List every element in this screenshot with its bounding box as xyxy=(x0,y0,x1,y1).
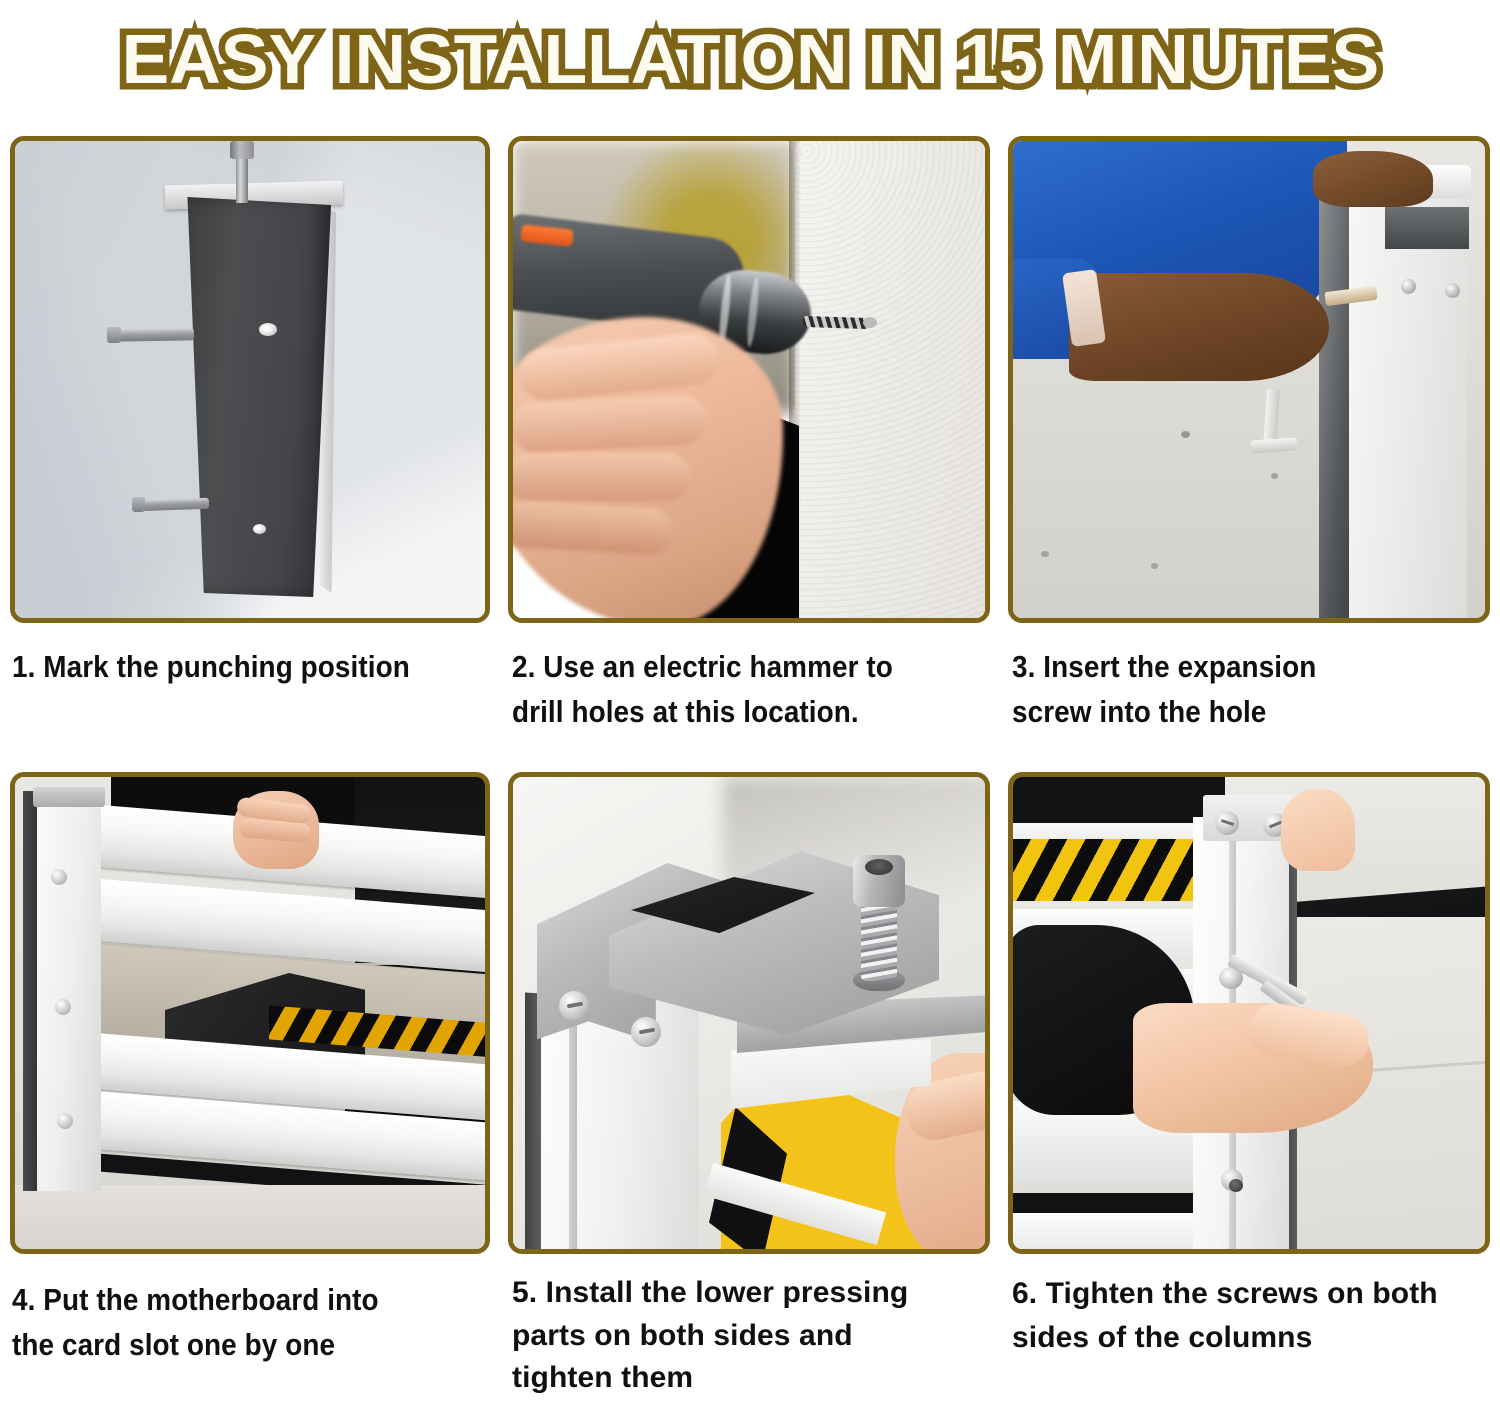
step-6-caption-line-1: 6. Tighten the screws on both xyxy=(1012,1272,1500,1316)
step-3-photo xyxy=(1013,141,1485,618)
infographic-page: EASY INSTALLATION IN 15 MINUTES 1. Mark … xyxy=(0,0,1500,1403)
finger-4 xyxy=(513,501,674,556)
column xyxy=(37,791,101,1191)
white-wall xyxy=(795,141,985,618)
floor-mark-3 xyxy=(1041,551,1049,557)
forearm xyxy=(1069,273,1329,381)
step-5-caption-line-2: parts on both sides and xyxy=(512,1315,982,1358)
column-screw-1 xyxy=(51,869,67,885)
floor xyxy=(15,1185,485,1249)
step-3-caption: 3. Insert the expansion screw into the h… xyxy=(1012,645,1444,735)
step-6-caption-line-2: sides of the columns xyxy=(1012,1316,1500,1360)
step-4-caption-line-1: 4. Put the motherboard into xyxy=(12,1278,480,1323)
post-hole-lower xyxy=(253,524,266,534)
step-4-photo-frame xyxy=(10,772,490,1254)
step-6-photo-frame xyxy=(1008,772,1490,1254)
step-4-caption-line-2: the card slot one by one xyxy=(12,1323,480,1368)
step-2-caption: 2. Use an electric hammer to drill holes… xyxy=(512,645,980,735)
step-2-photo xyxy=(513,141,985,618)
floor-mark-4 xyxy=(1151,563,1158,569)
step-1-caption: 1. Mark the punching position xyxy=(12,645,462,690)
step-2-photo-frame xyxy=(508,136,990,623)
column-screw-b xyxy=(1445,283,1460,298)
column-top-cap xyxy=(33,787,105,807)
step-5-photo xyxy=(513,777,985,1249)
step-5-photo-frame xyxy=(508,772,990,1254)
post-hole-upper xyxy=(259,323,277,336)
column-dark-plate xyxy=(1385,207,1469,249)
column-groove xyxy=(569,991,577,1249)
step-4-photo xyxy=(15,777,485,1249)
barrier-post xyxy=(183,197,331,597)
floor-mark-2 xyxy=(1271,473,1278,479)
step-5-caption: 5. Install the lower pressing parts on b… xyxy=(512,1272,982,1400)
step-3-caption-line-1: 3. Insert the expansion xyxy=(1012,645,1444,690)
step-2-caption-line-1: 2. Use an electric hammer to xyxy=(512,645,980,690)
column-screw-2 xyxy=(55,999,71,1015)
step-1-photo xyxy=(15,141,485,618)
column-screw-a xyxy=(1401,279,1416,294)
drill-bit-tip xyxy=(863,317,877,328)
upper-hand xyxy=(1313,151,1433,207)
top-bolt-head xyxy=(230,141,254,159)
lower-screw-socket xyxy=(1229,1179,1243,1192)
side-bolt-lower-end xyxy=(132,497,145,512)
step-6-photo xyxy=(1013,777,1485,1249)
step-6-caption: 6. Tighten the screws on both sides of t… xyxy=(1012,1272,1500,1359)
side-bolt-upper xyxy=(112,328,194,341)
side-bolt-upper-end xyxy=(107,327,121,343)
step-5-caption-line-3: tighten them xyxy=(512,1357,982,1400)
finger-3 xyxy=(513,453,691,501)
step-1-photo-frame xyxy=(10,136,490,623)
bolt-socket-hole xyxy=(865,859,893,875)
hazard-stripe xyxy=(1013,839,1199,901)
title-banner: EASY INSTALLATION IN 15 MINUTES xyxy=(0,0,1500,118)
column-screw-3 xyxy=(57,1113,73,1129)
barrier-board-5 xyxy=(1013,1213,1203,1249)
upper-hand xyxy=(1281,789,1355,871)
step-3-caption-line-2: screw into the hole xyxy=(1012,690,1444,735)
step-4-caption: 4. Put the motherboard into the card slo… xyxy=(12,1278,480,1368)
step-2-caption-line-2: drill holes at this location. xyxy=(512,690,980,735)
barrier-board-seal xyxy=(1013,1193,1203,1213)
drill-bit xyxy=(803,316,869,329)
finger-2 xyxy=(513,394,708,454)
page-title: EASY INSTALLATION IN 15 MINUTES xyxy=(121,24,1379,94)
bolt-thread xyxy=(861,897,897,981)
step-5-caption-line-1: 5. Install the lower pressing xyxy=(512,1272,982,1315)
floor-mark-1 xyxy=(1181,431,1190,438)
step-3-photo-frame xyxy=(1008,136,1490,623)
